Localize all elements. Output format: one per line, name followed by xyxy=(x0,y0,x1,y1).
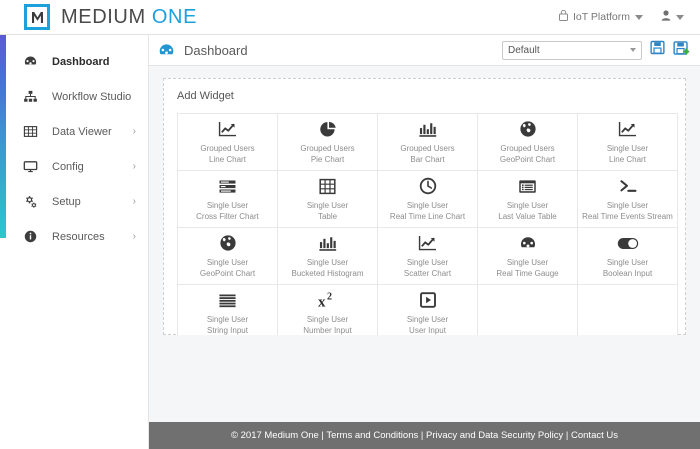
page-header: Dashboard Default xyxy=(149,35,700,66)
widget-scope: Single User xyxy=(307,314,348,325)
widget-scope: Single User xyxy=(407,257,448,268)
widget-scope: Single User xyxy=(207,257,248,268)
footer: © 2017 Medium One | Terms and Conditions… xyxy=(149,422,700,449)
clock-icon xyxy=(419,177,437,196)
gauge-icon xyxy=(519,234,537,253)
sidebar-item-workflow-studio[interactable]: Workflow Studio xyxy=(0,79,148,114)
user-menu[interactable] xyxy=(661,10,684,24)
sidebar-item-label: Dashboard xyxy=(52,56,109,68)
widget-option-single-user-boolean-input[interactable]: Single User Boolean Input xyxy=(578,228,678,285)
add-widget-title: Add Widget xyxy=(177,90,672,102)
widget-scope: Single User xyxy=(507,257,548,268)
chevron-down-icon xyxy=(676,15,684,20)
widget-type: Bar Chart xyxy=(410,154,444,165)
widget-type: Table xyxy=(318,211,337,222)
widget-option-single-user-table[interactable]: Single User Table xyxy=(278,171,378,228)
gauge-icon xyxy=(158,42,175,59)
widget-grid: Grouped Users Line Chart Grouped Users P… xyxy=(177,113,678,342)
content-area: Dashboard Default xyxy=(149,35,700,449)
sidebar-item-label: Data Viewer xyxy=(52,126,112,138)
widget-type: Real Time Line Chart xyxy=(390,211,465,222)
svg-text:2: 2 xyxy=(327,292,332,302)
page-title: Dashboard xyxy=(184,43,248,58)
sidebar-accent-stripe xyxy=(0,35,6,238)
svg-text:x: x xyxy=(318,294,326,309)
page-header-actions: Default xyxy=(502,40,690,61)
widget-type: Real Time Gauge xyxy=(496,268,558,279)
sidebar-item-dashboard[interactable]: Dashboard xyxy=(0,44,148,79)
globe-icon xyxy=(519,120,537,139)
widget-option-single-user-bucketed-histogram[interactable]: Single User Bucketed Histogram xyxy=(278,228,378,285)
widget-option-single-user-real-time-gauge[interactable]: Single User Real Time Gauge xyxy=(478,228,578,285)
widget-grid-filler xyxy=(478,285,578,342)
widget-scope: Single User xyxy=(607,257,648,268)
line-chart-icon xyxy=(618,120,637,139)
globe-icon xyxy=(219,234,237,253)
sidebar-nav: Dashboard Workflow Studio xyxy=(0,35,148,254)
widget-option-single-user-cross-filter-chart[interactable]: Single User Cross Filter Chart xyxy=(178,171,278,228)
widget-option-single-user-last-value-table[interactable]: Single User Last Value Table xyxy=(478,171,578,228)
widget-type: Scatter Chart xyxy=(404,268,451,279)
sidebar: Dashboard Workflow Studio xyxy=(0,35,149,449)
widget-scope: Single User xyxy=(207,200,248,211)
save-new-icon xyxy=(673,40,690,61)
chevron-down-icon xyxy=(635,15,643,20)
info-icon xyxy=(20,229,40,244)
gears-icon xyxy=(20,194,40,209)
bar-chart-icon xyxy=(418,120,437,139)
widget-type: Number Input xyxy=(303,325,351,336)
sitemap-icon xyxy=(20,89,40,104)
iot-platform-label: IoT Platform xyxy=(573,11,630,23)
widget-type: User Input xyxy=(409,325,446,336)
app-root: MEDIUM ONE IoT Platform xyxy=(0,0,700,449)
list-panel-icon xyxy=(518,177,537,196)
chevron-right-icon: › xyxy=(133,162,136,172)
toggle-icon xyxy=(617,234,639,253)
save-as-new-button[interactable] xyxy=(673,40,690,61)
cross-filter-icon xyxy=(218,177,237,196)
widget-option-single-user-string-input[interactable]: Single User String Input xyxy=(178,285,278,342)
top-bar: MEDIUM ONE IoT Platform xyxy=(0,0,700,35)
sidebar-item-resources[interactable]: Resources › xyxy=(0,219,148,254)
widget-option-grouped-users-pie-chart[interactable]: Grouped Users Pie Chart xyxy=(278,114,378,171)
chevron-right-icon: › xyxy=(133,197,136,207)
sidebar-item-setup[interactable]: Setup › xyxy=(0,184,148,219)
widget-type: Boolean Input xyxy=(603,268,652,279)
widget-scope: Single User xyxy=(207,314,248,325)
sidebar-item-label: Setup xyxy=(52,196,81,208)
x-squared-icon: x 2 xyxy=(317,291,339,310)
brand-name-accent: ONE xyxy=(152,6,197,28)
widget-scope: Single User xyxy=(307,200,348,211)
user-icon xyxy=(661,10,671,24)
dashboard-select[interactable]: Default xyxy=(502,41,642,60)
widget-scope: Grouped Users xyxy=(400,143,454,154)
widget-option-single-user-scatter-chart[interactable]: Single User Scatter Chart xyxy=(378,228,478,285)
widget-option-single-user-geopoint-chart[interactable]: Single User GeoPoint Chart xyxy=(178,228,278,285)
line-chart-icon xyxy=(218,120,237,139)
content-spacer xyxy=(149,335,700,422)
bar-chart-icon xyxy=(318,234,337,253)
widget-scope: Single User xyxy=(407,314,448,325)
widget-option-single-user-number-input[interactable]: x 2 Single User Number Input xyxy=(278,285,378,342)
widget-option-grouped-users-line-chart[interactable]: Grouped Users Line Chart xyxy=(178,114,278,171)
brand-logo[interactable]: MEDIUM ONE xyxy=(24,4,197,30)
widget-type: Real Time Events Stream xyxy=(582,211,673,222)
widget-scope: Grouped Users xyxy=(500,143,554,154)
sidebar-item-label: Resources xyxy=(52,231,105,243)
dashboard-select-value: Default xyxy=(508,45,540,56)
sidebar-item-data-viewer[interactable]: Data Viewer › xyxy=(0,114,148,149)
widget-type: Bucketed Histogram xyxy=(291,268,363,279)
brand-name-dark: MEDIUM xyxy=(61,6,146,28)
widget-type: Last Value Table xyxy=(498,211,556,222)
widget-option-single-user-line-chart[interactable]: Single User Line Chart xyxy=(578,114,678,171)
widget-type: Pie Chart xyxy=(311,154,344,165)
chevron-right-icon: › xyxy=(133,232,136,242)
brand-text: MEDIUM ONE xyxy=(61,6,197,29)
widget-option-single-user-user-input[interactable]: Single User User Input xyxy=(378,285,478,342)
sidebar-item-label: Config xyxy=(52,161,84,173)
widget-option-grouped-users-bar-chart[interactable]: Grouped Users Bar Chart xyxy=(378,114,478,171)
iot-platform-menu[interactable]: IoT Platform xyxy=(559,10,643,24)
widget-type: String Input xyxy=(207,325,248,336)
widget-type: GeoPoint Chart xyxy=(200,268,255,279)
logo-mark-icon xyxy=(24,4,50,30)
chevron-right-icon: › xyxy=(133,127,136,137)
chevron-down-icon xyxy=(630,48,636,52)
widget-option-grouped-users-geopoint-chart[interactable]: Grouped Users GeoPoint Chart xyxy=(478,114,578,171)
sidebar-item-label: Workflow Studio xyxy=(52,91,131,103)
pie-chart-icon xyxy=(319,120,337,139)
widget-grid-filler xyxy=(578,285,678,342)
widget-scope: Single User xyxy=(607,143,648,154)
lock-icon xyxy=(559,10,568,24)
widget-panel-wrapper: Add Widget Grouped Users Line Chart xyxy=(149,66,700,335)
footer-text: © 2017 Medium One | Terms and Conditions… xyxy=(231,430,618,441)
lines-icon xyxy=(218,291,237,310)
widget-type: Line Chart xyxy=(609,154,646,165)
monitor-icon xyxy=(20,159,40,174)
sidebar-item-config[interactable]: Config › xyxy=(0,149,148,184)
widget-scope: Single User xyxy=(307,257,348,268)
widget-option-single-user-real-time-line-chart[interactable]: Single User Real Time Line Chart xyxy=(378,171,478,228)
widget-scope: Single User xyxy=(607,200,648,211)
widget-type: GeoPoint Chart xyxy=(500,154,555,165)
terminal-icon xyxy=(618,177,638,196)
widget-scope: Grouped Users xyxy=(300,143,354,154)
widget-scope: Single User xyxy=(507,200,548,211)
add-widget-panel: Add Widget Grouped Users Line Chart xyxy=(163,78,686,335)
top-bar-right: IoT Platform xyxy=(559,10,684,24)
line-chart-icon xyxy=(418,234,437,253)
play-box-icon xyxy=(420,291,436,310)
table-icon xyxy=(20,124,40,139)
widget-type: Line Chart xyxy=(209,154,246,165)
widget-scope: Single User xyxy=(407,200,448,211)
save-icon xyxy=(650,40,665,60)
gauge-icon xyxy=(20,54,40,69)
widget-scope: Grouped Users xyxy=(200,143,254,154)
widget-option-single-user-real-time-events-stream[interactable]: Single User Real Time Events Stream xyxy=(578,171,678,228)
widget-type: Cross Filter Chart xyxy=(196,211,259,222)
save-button[interactable] xyxy=(650,40,665,60)
grid-table-icon xyxy=(319,177,336,196)
